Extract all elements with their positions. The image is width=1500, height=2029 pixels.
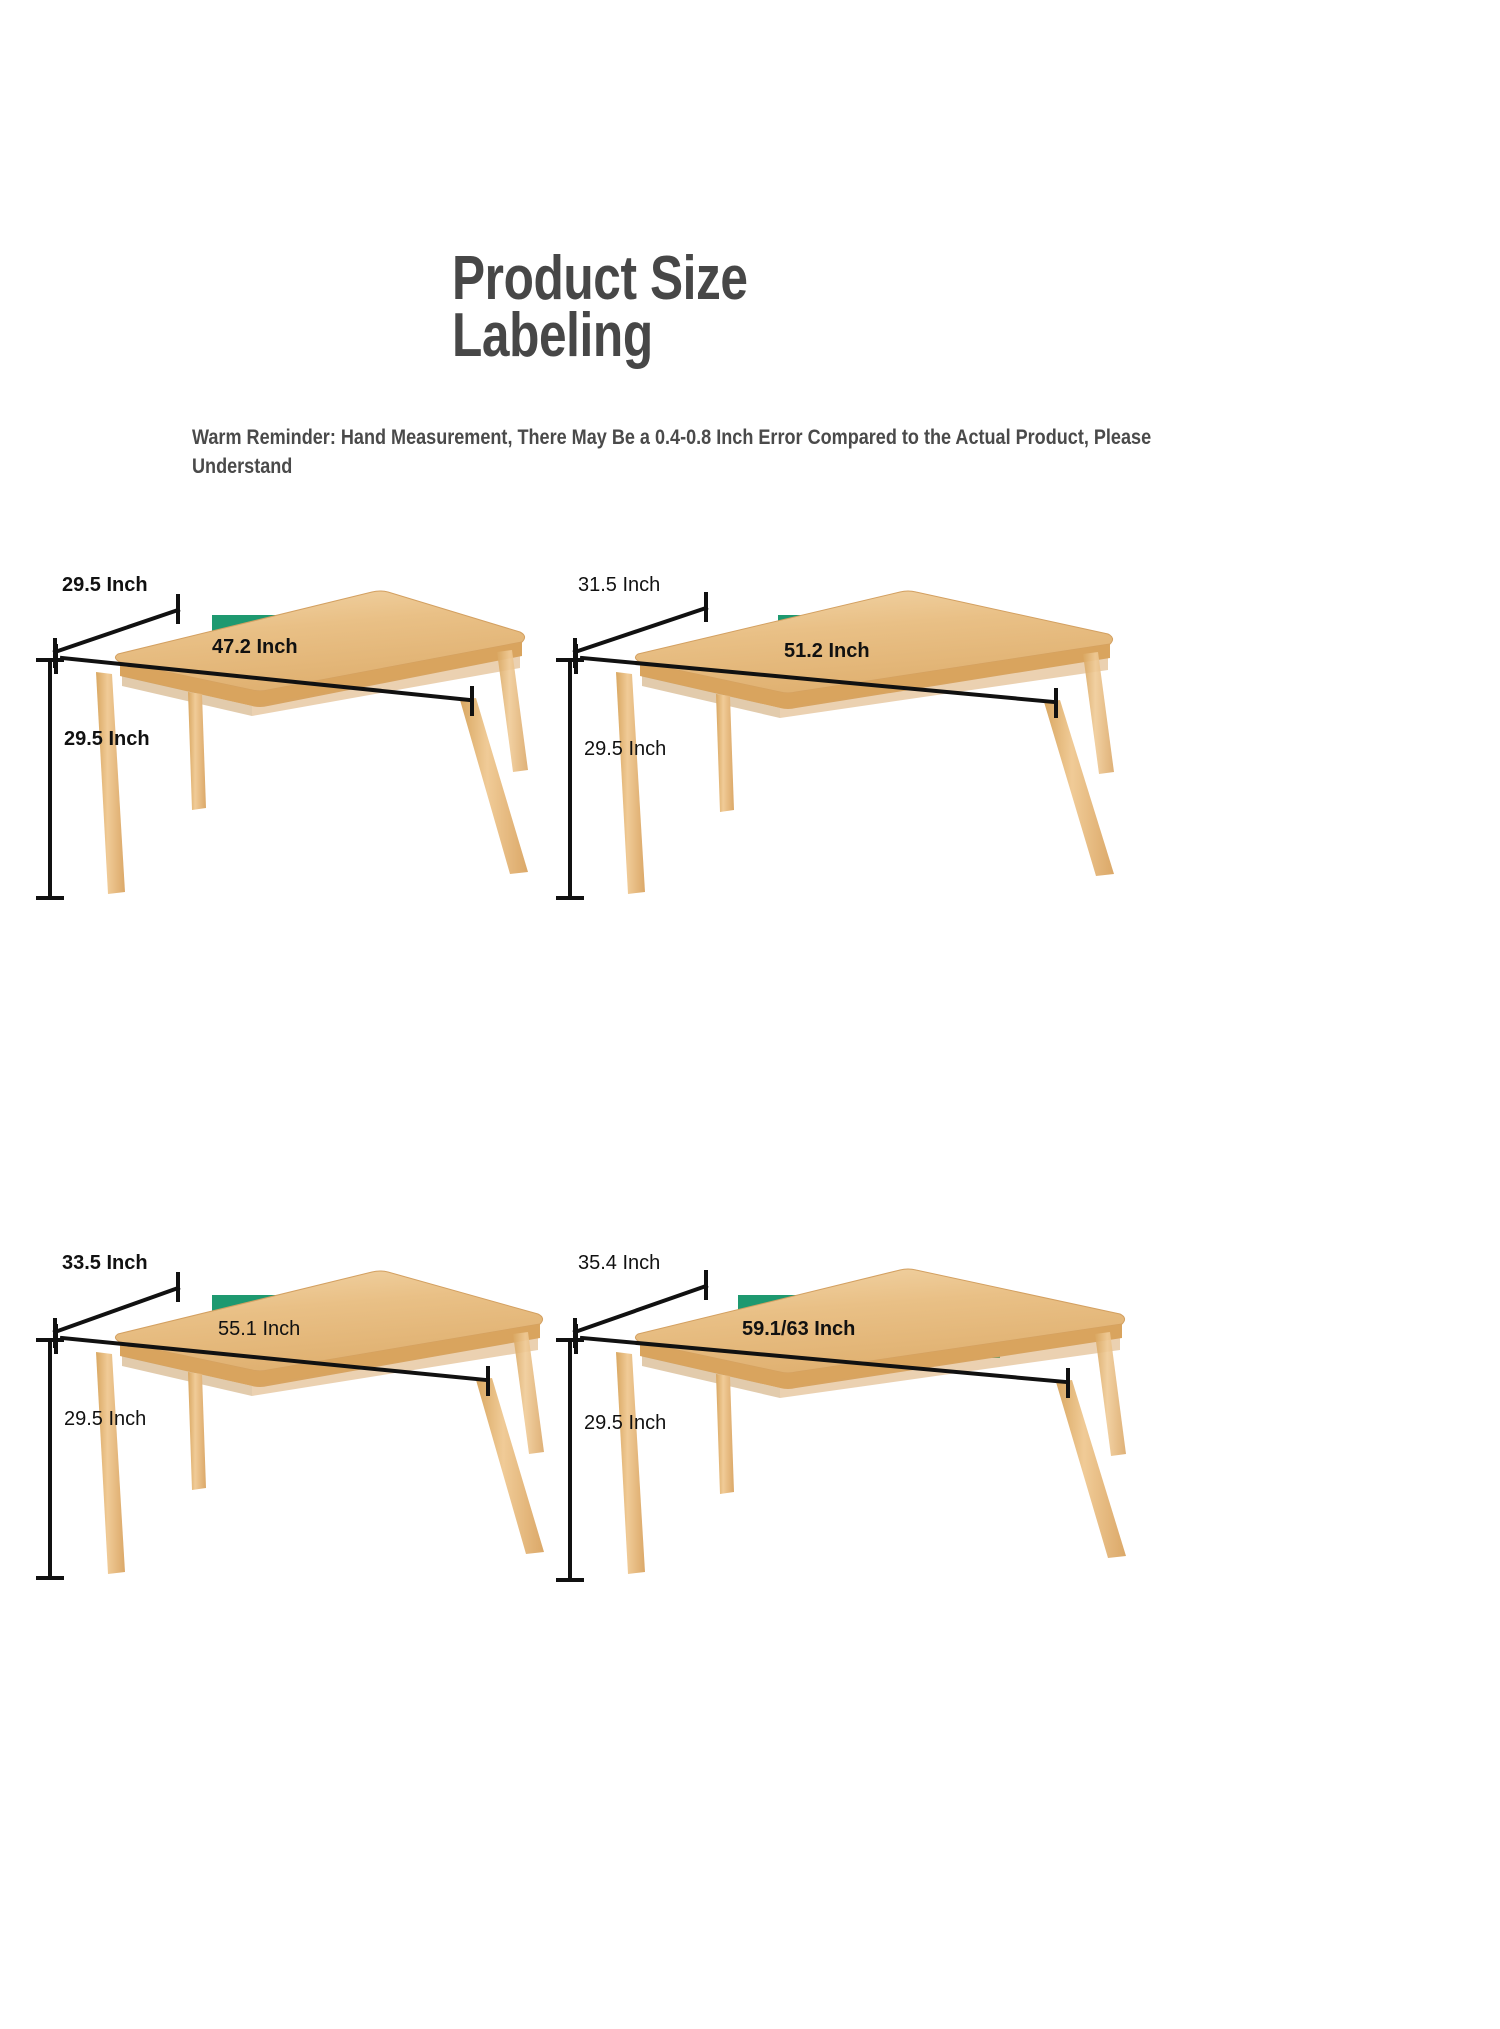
dining-table-illustration-59 <box>520 680 1500 1695</box>
product-panel-59: 59.1/63 Inch Dining Table <box>520 680 1500 1695</box>
width-label-59: 59.1/63 Inch <box>742 1318 855 1341</box>
depth-label-51: 31.5 Inch <box>578 574 660 597</box>
depth-label-59: 35.4 Inch <box>578 1252 660 1275</box>
width-label-47: 47.2 Inch <box>212 636 298 659</box>
height-label-59: 29.5 Inch <box>584 1412 666 1435</box>
depth-label-55: 33.5 Inch <box>62 1252 148 1275</box>
width-label-51: 51.2 Inch <box>784 640 870 663</box>
height-label-55: 29.5 Inch <box>64 1408 146 1431</box>
depth-label-47: 29.5 Inch <box>62 574 148 597</box>
width-label-55: 55.1 Inch <box>218 1318 300 1341</box>
